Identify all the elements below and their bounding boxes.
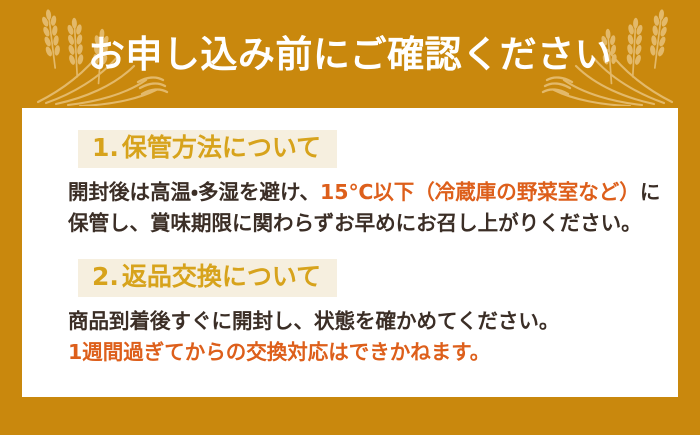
content-panel: 1.保管方法について 開封後は高温・多湿を避け、15℃以下（冷蔵庫の野菜室など）…	[22, 108, 678, 397]
section-storage-line-1: 開封後は高温・多湿を避け、15℃以下（冷蔵庫の野菜室など）に	[68, 177, 678, 208]
section-storage-title: 保管方法について	[122, 133, 321, 162]
banner-title: お申し込み前にご確認ください	[0, 0, 700, 108]
section-returns-number: 2.	[92, 262, 119, 291]
section-returns-title: 返品交換について	[122, 262, 321, 291]
section-returns-line-1: 商品到着後すぐに開封し、状態を確かめてください。	[68, 306, 678, 337]
section-returns: 2.返品交換について 商品到着後すぐに開封し、状態を確かめてください。 1週間過…	[22, 259, 678, 368]
text-segment: 保管し、賞味期限に関わらずお早めにお召し上がりください。	[68, 211, 642, 235]
section-storage: 1.保管方法について 開封後は高温・多湿を避け、15℃以下（冷蔵庫の野菜室など）…	[22, 130, 678, 239]
text-segment: に	[640, 180, 661, 204]
text-segment: 商品到着後すぐに開封し、状態を確かめてください。	[68, 309, 559, 333]
text-segment: 開封後は高温・多湿を避け、	[68, 180, 320, 204]
section-returns-heading: 2.返品交換について	[78, 259, 337, 297]
section-returns-line-2: 1週間過ぎてからの交換対応はできかねます。	[68, 337, 678, 368]
section-storage-body: 開封後は高温・多湿を避け、15℃以下（冷蔵庫の野菜室など）に 保管し、賞味期限に…	[68, 177, 678, 239]
text-segment-accent: 1週間過ぎてからの交換対応はできかねます。	[68, 340, 490, 364]
banner-header: お申し込み前にご確認ください	[0, 0, 700, 108]
section-returns-body: 商品到着後すぐに開封し、状態を確かめてください。 1週間過ぎてからの交換対応はで…	[68, 306, 678, 368]
section-storage-number: 1.	[92, 133, 119, 162]
section-storage-line-2: 保管し、賞味期限に関わらずお早めにお召し上がりください。	[68, 208, 678, 239]
notice-banner: お申し込み前にご確認ください 1.保管方法について 開封後は高温・多湿を避け、1…	[0, 0, 700, 435]
text-segment-accent: 15℃以下（冷蔵庫の野菜室など）	[320, 180, 640, 204]
section-storage-heading: 1.保管方法について	[78, 130, 337, 168]
